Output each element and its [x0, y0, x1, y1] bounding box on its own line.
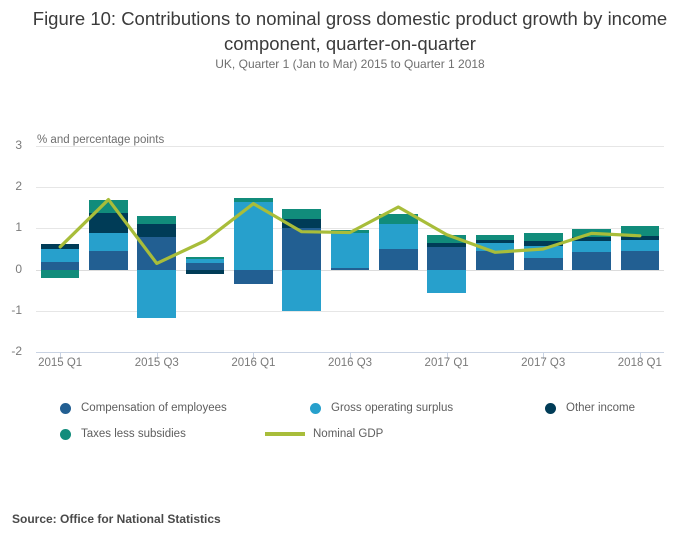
- y-axis-note: % and percentage points: [37, 134, 164, 146]
- legend-row-2: Taxes less subsidiesNominal GDP: [0, 428, 700, 454]
- y-tick-label: -1: [0, 303, 22, 317]
- figure-container: Figure 10: Contributions to nominal gros…: [0, 0, 700, 549]
- x-axis-labels: 2015 Q12015 Q32016 Q12016 Q32017 Q12017 …: [0, 357, 700, 377]
- y-tick-label: 2: [0, 179, 22, 193]
- x-tick-label: 2016 Q1: [231, 357, 275, 369]
- legend-dot-icon: [60, 403, 71, 414]
- legend-label: Compensation of employees: [81, 402, 227, 414]
- y-tick-label: 1: [0, 220, 22, 234]
- legend-label: Taxes less subsidies: [81, 428, 186, 440]
- plot-area: 3210-1-2: [36, 146, 664, 352]
- x-tick-label: 2018 Q1: [618, 357, 662, 369]
- legend-row-1: Compensation of employeesGross operating…: [0, 402, 700, 428]
- page-subtitle: UK, Quarter 1 (Jan to Mar) 2015 to Quart…: [0, 57, 700, 71]
- gdp-line-path: [60, 200, 640, 264]
- y-tick-label: -2: [0, 344, 22, 358]
- legend-dot-icon: [545, 403, 556, 414]
- legend-label: Gross operating surplus: [331, 402, 453, 414]
- legend-item[interactable]: Taxes less subsidies: [60, 428, 186, 440]
- x-tick-label: 2015 Q1: [38, 357, 82, 369]
- page-title: Figure 10: Contributions to nominal gros…: [0, 6, 700, 56]
- legend-item[interactable]: Other income: [545, 402, 635, 414]
- nominal-gdp-line: [36, 146, 664, 352]
- x-tick-label: 2016 Q3: [328, 357, 372, 369]
- source-note: Source: Office for National Statistics: [12, 512, 221, 526]
- y-tick-label: 0: [0, 262, 22, 276]
- chart-legend: Compensation of employeesGross operating…: [0, 402, 700, 454]
- legend-item[interactable]: Compensation of employees: [60, 402, 227, 414]
- legend-dot-icon: [60, 429, 71, 440]
- legend-label: Other income: [566, 402, 635, 414]
- legend-item[interactable]: Gross operating surplus: [310, 402, 453, 414]
- x-tick-label: 2017 Q3: [521, 357, 565, 369]
- legend-item[interactable]: Nominal GDP: [265, 428, 383, 440]
- legend-line-icon: [265, 432, 305, 436]
- x-tick-label: 2017 Q1: [425, 357, 469, 369]
- legend-dot-icon: [310, 403, 321, 414]
- legend-label: Nominal GDP: [313, 428, 383, 440]
- x-tick-label: 2015 Q3: [135, 357, 179, 369]
- y-tick-label: 3: [0, 138, 22, 152]
